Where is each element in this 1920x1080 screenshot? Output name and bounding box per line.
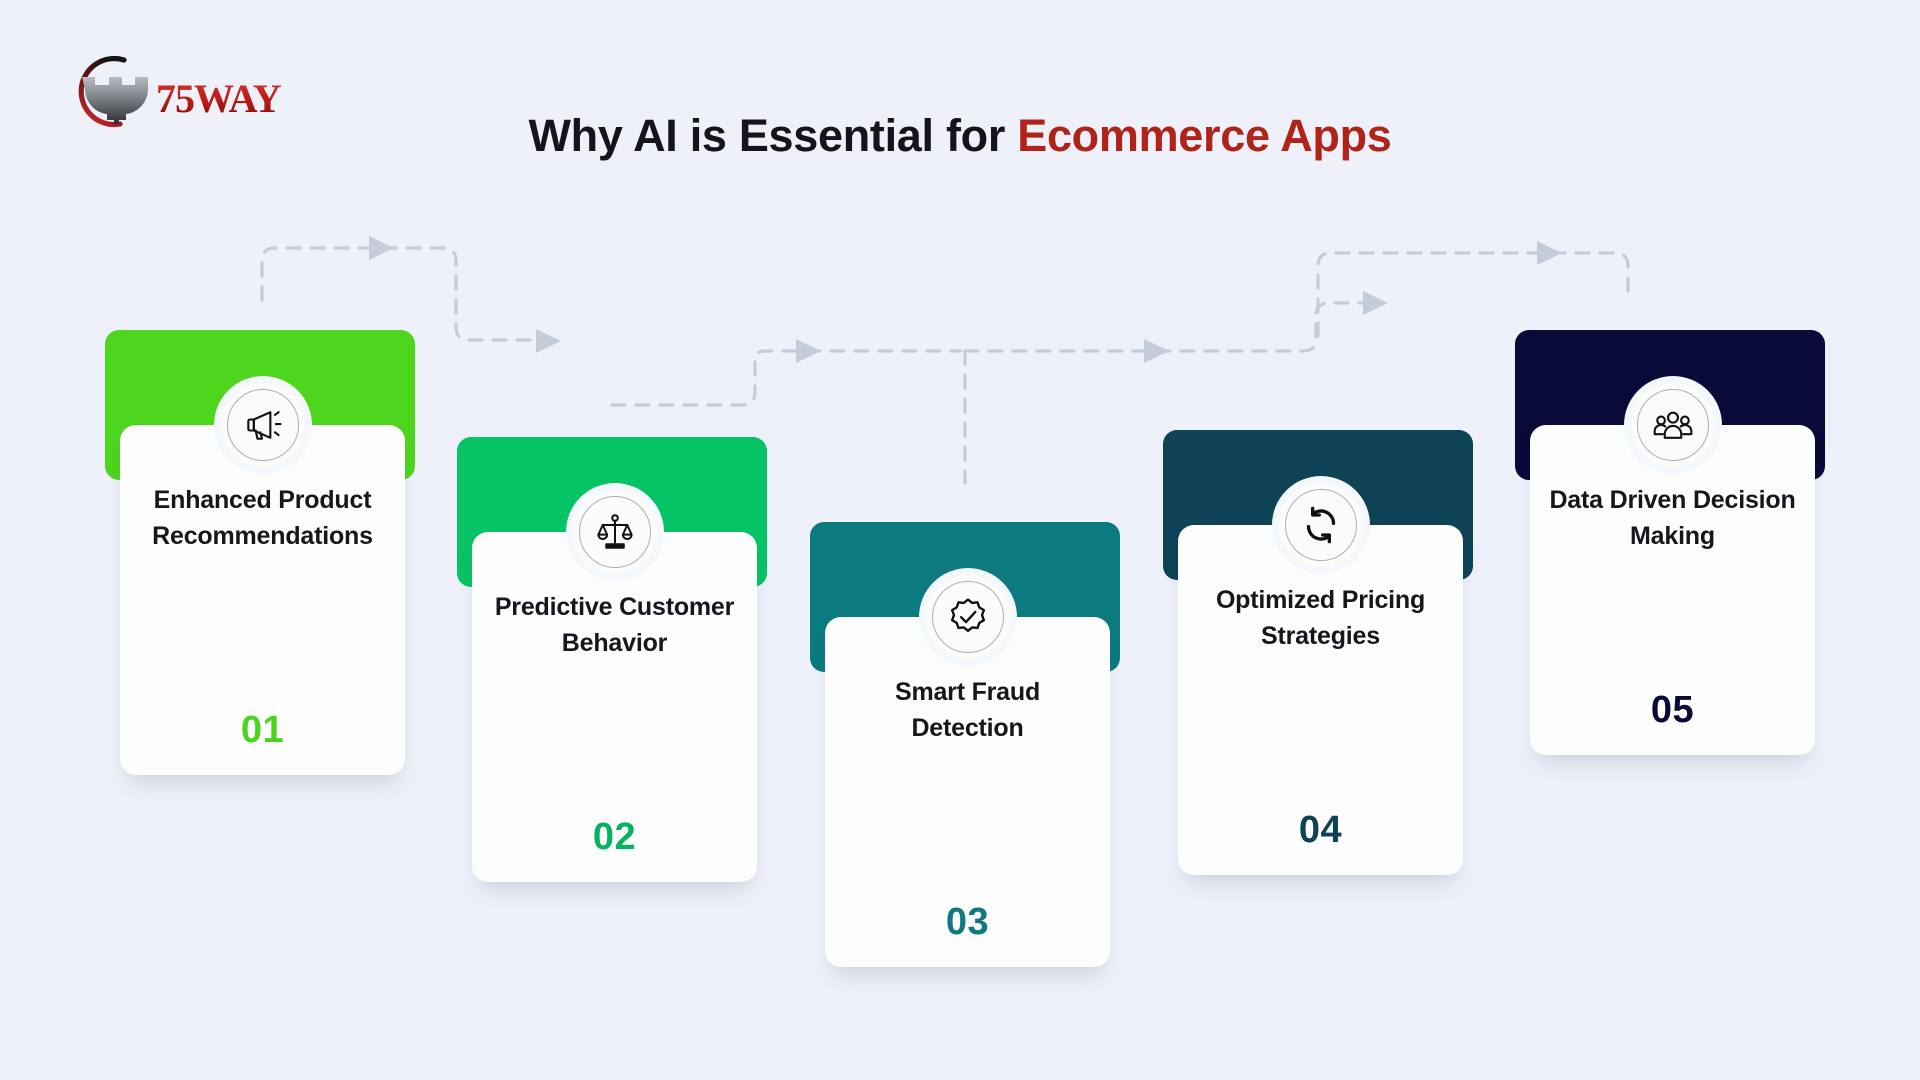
steps-container: Enhanced Product Recommendations 01 Pred…	[0, 0, 1920, 1080]
sync-refresh-icon	[1301, 505, 1341, 545]
step-card-body-5[interactable]: Data Driven Decision Making 05	[1530, 425, 1815, 755]
step-number-2: 02	[593, 818, 636, 856]
step-badge-3	[926, 575, 1010, 659]
balance-scale-icon	[594, 511, 636, 553]
people-group-icon	[1651, 403, 1695, 447]
step-number-4: 04	[1299, 811, 1342, 849]
step-badge-4	[1279, 483, 1363, 567]
megaphone-icon	[241, 403, 285, 447]
step-card-body-4[interactable]: Optimized Pricing Strategies 04	[1178, 525, 1463, 875]
step-number-5: 05	[1651, 691, 1694, 729]
step-title-5: Data Driven Decision Making	[1548, 483, 1797, 554]
step-title-2: Predictive Customer Behavior	[490, 590, 739, 661]
step-number-3: 03	[946, 903, 989, 941]
step-card-body-1[interactable]: Enhanced Product Recommendations 01	[120, 425, 405, 775]
step-number-1: 01	[241, 711, 284, 749]
step-title-1: Enhanced Product Recommendations	[138, 483, 387, 554]
verified-badge-icon	[946, 595, 990, 639]
step-title-3: Smart Fraud Detection	[843, 675, 1092, 746]
step-badge-1	[221, 383, 305, 467]
step-title-4: Optimized Pricing Strategies	[1196, 583, 1445, 654]
step-badge-2	[573, 490, 657, 574]
step-badge-5	[1631, 383, 1715, 467]
step-card-body-2[interactable]: Predictive Customer Behavior 02	[472, 532, 757, 882]
step-card-body-3[interactable]: Smart Fraud Detection 03	[825, 617, 1110, 967]
